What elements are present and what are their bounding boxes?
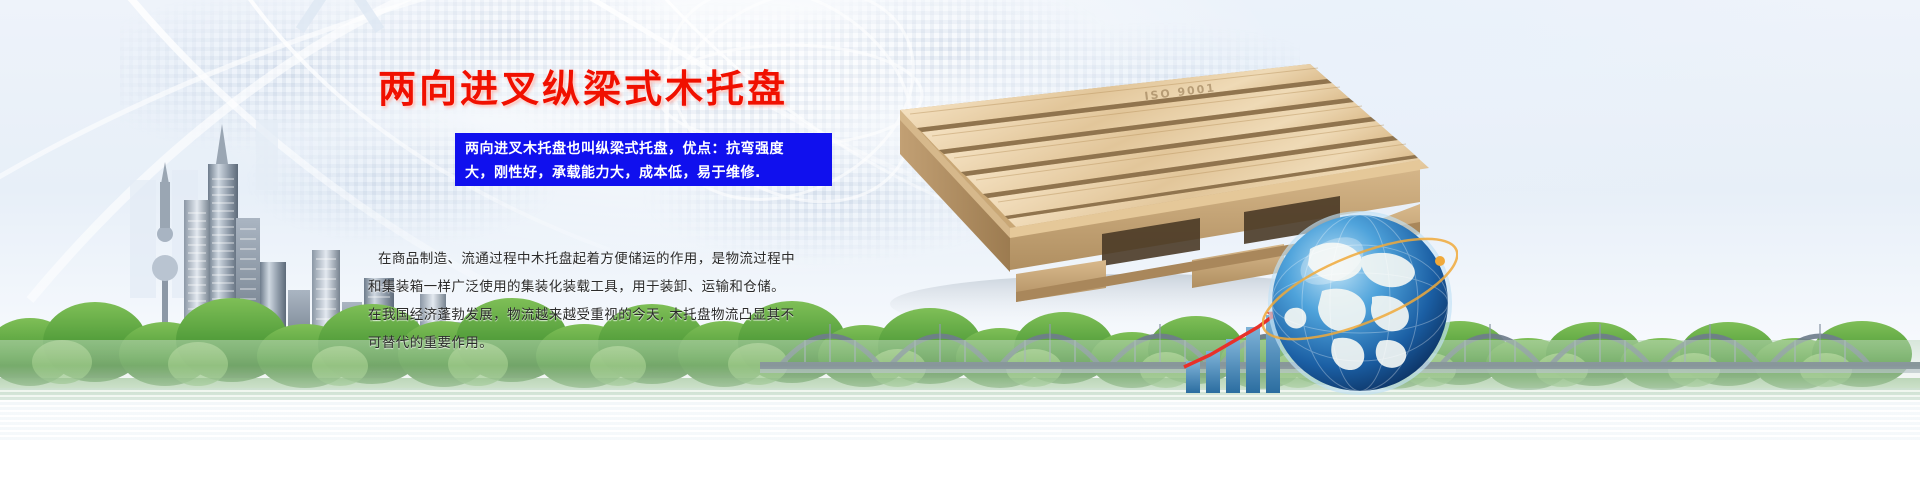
banner-title: 两向进叉纵梁式木托盘 — [378, 58, 788, 113]
product-banner: ISO 9001 — [0, 0, 1920, 500]
highlight-line-2: 大，刚性好，承载能力大，成本低，易于维修. — [465, 161, 824, 185]
highlight-line-1: 两向进叉木托盘也叫纵梁式托盘，优点：抗弯强度 — [465, 137, 824, 161]
highlight-callout: 两向进叉木托盘也叫纵梁式托盘，优点：抗弯强度 大，刚性好，承载能力大，成本低，易… — [455, 133, 832, 186]
water-sheen — [0, 388, 1920, 442]
description-line-2: 和集装箱一样广泛使用的集装化装载工具，用于装卸、运输和仓储。 — [368, 273, 848, 301]
earth-globe-graphic — [1262, 205, 1458, 401]
description-line-3: 在我国经济蓬勃发展，物流越来越受重视的今天, 木托盘物流凸显其不 — [368, 301, 848, 329]
description-line-1: 在商品制造、流通过程中木托盘起着方便储运的作用，是物流过程中 — [368, 245, 848, 273]
banner-description: 在商品制造、流通过程中木托盘起着方便储运的作用，是物流过程中 和集装箱一样广泛使… — [368, 245, 848, 357]
description-line-4: 可替代的重要作用。 — [368, 329, 848, 357]
